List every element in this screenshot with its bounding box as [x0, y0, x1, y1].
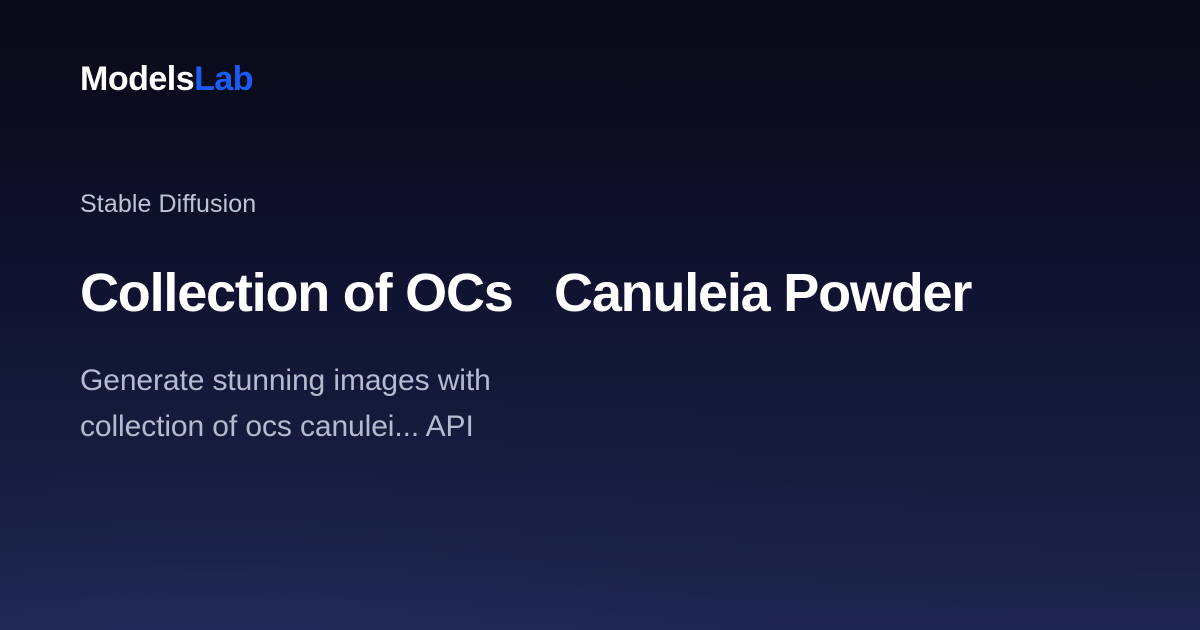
og-preview-card: ModelsLab Stable Diffusion Collection of…: [0, 0, 1200, 630]
card-content: ModelsLab Stable Diffusion Collection of…: [0, 0, 1200, 630]
brand-logo[interactable]: ModelsLab: [80, 62, 253, 96]
page-title: Collection of OCs Canuleia Powder: [80, 262, 971, 326]
brand-logo-accent-text: Lab: [194, 60, 253, 98]
page-description: Generate stunning images with collection…: [80, 358, 491, 450]
brand-logo-primary-text: Models: [80, 60, 194, 98]
category-eyebrow: Stable Diffusion: [80, 188, 256, 221]
